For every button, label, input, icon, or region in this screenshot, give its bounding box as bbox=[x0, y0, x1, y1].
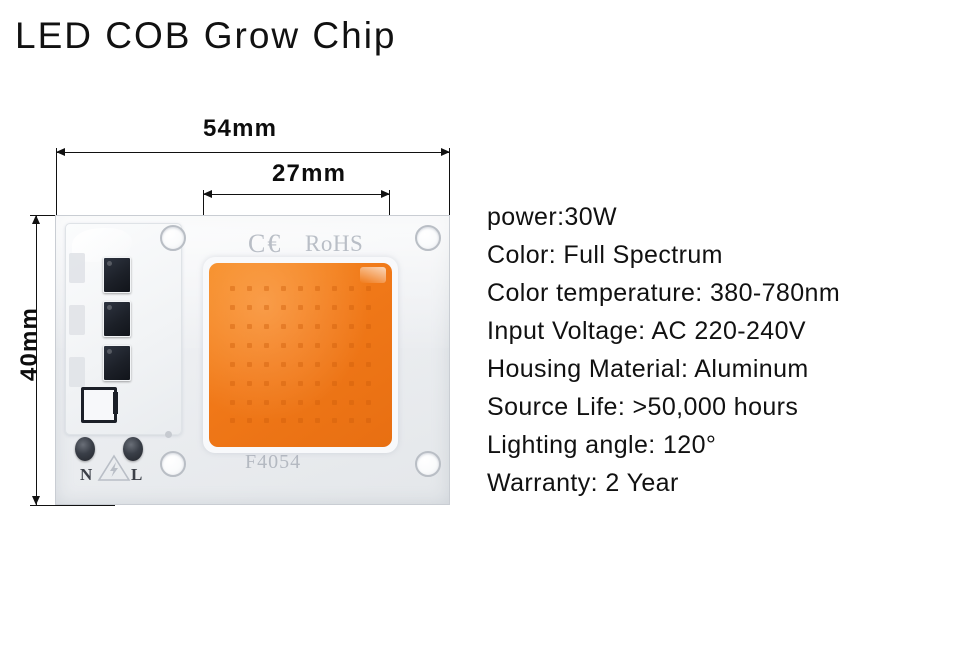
mounting-hole bbox=[160, 451, 186, 477]
specification-list: power:30W Color: Full Spectrum Color tem… bbox=[487, 198, 957, 502]
arrow-right-icon bbox=[381, 190, 390, 198]
extension-line-left bbox=[56, 148, 57, 218]
terminal-label-neutral: N bbox=[80, 465, 92, 485]
mounting-hole bbox=[415, 225, 441, 251]
led-die-grid bbox=[224, 280, 378, 431]
product-image: LED COB Grow Chip 54mm 27mm 40mm bbox=[0, 0, 960, 650]
dimension-line-height-total bbox=[36, 215, 37, 505]
arrow-left-icon bbox=[203, 190, 212, 198]
spec-item-source-life: Source Life: >50,000 hours bbox=[487, 388, 957, 426]
capacitor-component bbox=[81, 387, 117, 423]
spec-item-housing-material: Housing Material: Aluminum bbox=[487, 350, 957, 388]
model-marking: F4054 bbox=[245, 451, 301, 474]
arrow-left-icon bbox=[56, 148, 65, 156]
spec-item-power: power:30W bbox=[487, 198, 957, 236]
dimension-label-width-total: 54mm bbox=[203, 115, 277, 143]
mounting-hole bbox=[160, 225, 186, 251]
spec-item-input-voltage: Input Voltage: AC 220-240V bbox=[487, 312, 957, 350]
page-title: LED COB Grow Chip bbox=[15, 14, 397, 58]
terminal-label-live: L bbox=[131, 465, 142, 485]
extension-line-bottom bbox=[30, 505, 115, 506]
dimension-label-height-total: 40mm bbox=[16, 294, 44, 394]
via-dot bbox=[165, 431, 172, 438]
extension-line-right bbox=[449, 148, 450, 218]
driver-ic-chip bbox=[103, 257, 131, 293]
spec-item-lighting-angle: Lighting angle: 120° bbox=[487, 426, 957, 464]
edge-pad bbox=[69, 357, 85, 387]
edge-pad bbox=[69, 253, 85, 283]
driver-ic-chip bbox=[103, 345, 131, 381]
arrow-down-icon bbox=[32, 496, 40, 505]
phosphor-surface bbox=[209, 263, 392, 447]
high-voltage-warning-icon bbox=[97, 453, 131, 483]
cob-emitter bbox=[203, 257, 398, 453]
terminal-pad-neutral bbox=[75, 437, 95, 461]
ce-mark: C€ bbox=[248, 229, 282, 259]
rohs-mark: RoHS bbox=[305, 231, 363, 257]
arrow-right-icon bbox=[441, 148, 450, 156]
mounting-hole bbox=[415, 451, 441, 477]
spec-item-color-temperature: Color temperature: 380-780nm bbox=[487, 274, 957, 312]
arrow-up-icon bbox=[32, 215, 40, 224]
edge-pad bbox=[69, 305, 85, 335]
spec-item-color: Color: Full Spectrum bbox=[487, 236, 957, 274]
dimension-line-width-total bbox=[56, 152, 450, 153]
driver-ic-chip bbox=[103, 301, 131, 337]
dimension-label-width-cob: 27mm bbox=[272, 160, 346, 188]
led-cob-board: C€ RoHS F4054 N L bbox=[55, 215, 450, 505]
dimension-line-width-cob bbox=[203, 194, 390, 195]
spec-item-warranty: Warranty: 2 Year bbox=[487, 464, 957, 502]
